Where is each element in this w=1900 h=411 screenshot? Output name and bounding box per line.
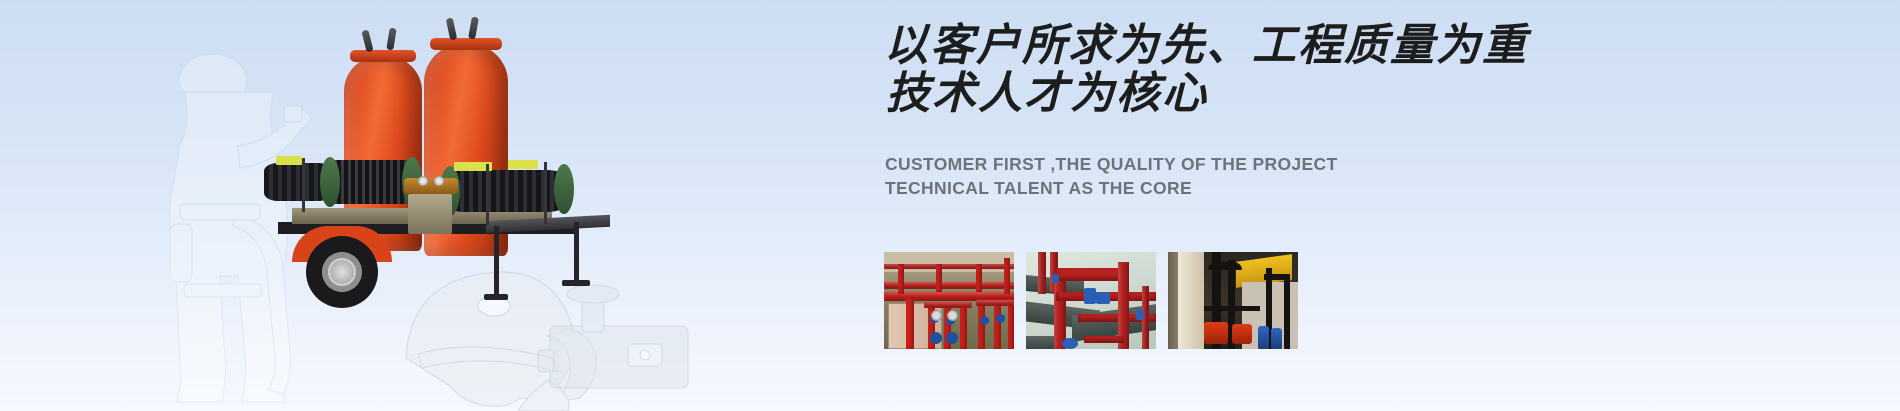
trailer-wheel — [306, 236, 378, 308]
stabilizer-leg — [574, 222, 579, 284]
stabilizer-foot — [562, 280, 590, 286]
tank-cap — [350, 50, 416, 62]
hero-banner: 以客户所求为先、工程质量为重 技术人才为核心 CUSTOMER FIRST ,T… — [0, 0, 1900, 411]
reel-disc — [554, 164, 574, 214]
thumbnail-pump-boiler-room[interactable] — [1168, 252, 1298, 349]
support-rod — [544, 162, 547, 224]
headline-line-1: 以客户所求为先、工程质量为重 — [884, 22, 1544, 70]
hose-reel-main — [330, 160, 410, 204]
thumbnail-strip — [884, 252, 1298, 349]
thumbnail-fire-main-piping[interactable] — [1026, 252, 1156, 349]
reel-disc — [320, 157, 340, 207]
pressure-gauge-icon — [418, 176, 428, 186]
tank-cap — [430, 38, 502, 50]
valve-manifold — [404, 178, 458, 194]
pump-housing — [408, 194, 452, 234]
support-rod — [302, 158, 305, 212]
subheadline-line-2: TECHNICAL TALENT AS THE CORE — [885, 176, 1338, 200]
subheadline-line-1: CUSTOMER FIRST ,THE QUALITY OF THE PROJE… — [885, 152, 1338, 176]
support-rod — [486, 164, 489, 226]
headline-chinese: 以客户所求为先、工程质量为重 技术人才为核心 — [884, 22, 1544, 118]
headline-line-2: 技术人才为核心 — [884, 70, 1544, 118]
yellow-bracket — [276, 156, 302, 165]
thumbnail-sprinkler-riser-room[interactable] — [884, 252, 1014, 349]
yellow-bracket — [508, 160, 538, 169]
subheadline-english: CUSTOMER FIRST ,THE QUALITY OF THE PROJE… — [885, 152, 1338, 200]
product-photo-trailer-fire-unit — [258, 8, 678, 308]
hose-reel-side — [446, 170, 566, 212]
pressure-gauge-icon — [434, 176, 444, 186]
banner-text-column: 以客户所求为先、工程质量为重 技术人才为核心 CUSTOMER FIRST ,T… — [884, 0, 1584, 411]
stabilizer-leg — [494, 226, 499, 296]
stabilizer-foot — [484, 294, 508, 300]
